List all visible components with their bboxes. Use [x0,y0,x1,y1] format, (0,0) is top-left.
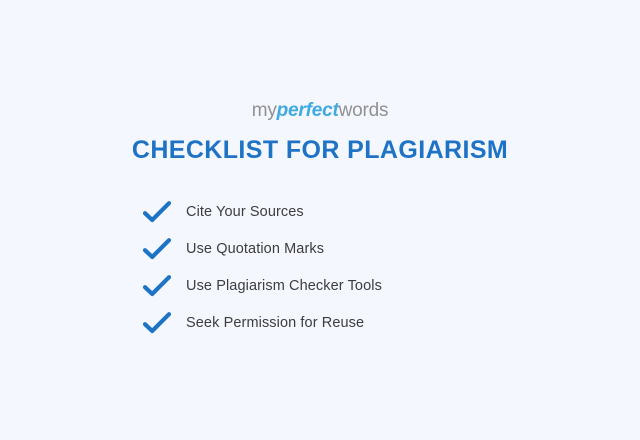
list-item: Seek Permission for Reuse [142,304,562,341]
list-item-label: Cite Your Sources [186,202,304,222]
list-item-label: Use Plagiarism Checker Tools [186,276,382,296]
list-item-label: Use Quotation Marks [186,239,324,259]
list-item: Cite Your Sources [142,193,562,230]
check-icon [142,311,172,335]
check-icon [142,200,172,224]
page-title: CHECKLIST FOR PLAGIARISM [0,135,640,165]
brand-logo: myperfectwords [0,101,640,120]
brand-logo-words: words [339,100,389,121]
list-item: Use Plagiarism Checker Tools [142,267,562,304]
list-item-label: Seek Permission for Reuse [186,313,364,333]
brand-logo-perfect: perfect [277,100,339,121]
check-icon [142,274,172,298]
list-item: Use Quotation Marks [142,230,562,267]
brand-logo-my: my [252,100,277,121]
check-icon [142,237,172,261]
plagiarism-checklist-infographic: myperfectwords CHECKLIST FOR PLAGIARISM … [0,0,640,440]
checklist: Cite Your Sources Use Quotation Marks Us… [142,193,562,341]
